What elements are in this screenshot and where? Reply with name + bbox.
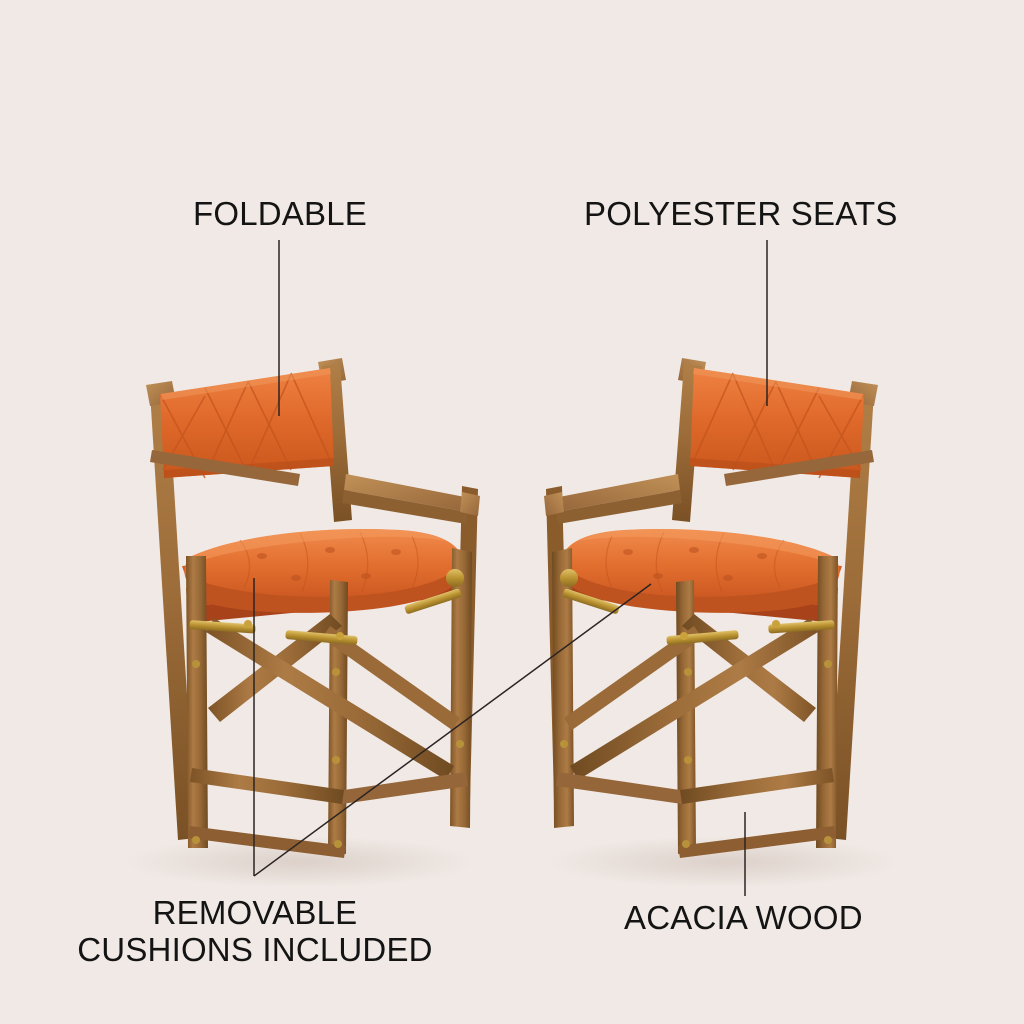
product-infographic: FOLDABLE POLYESTER SEATS REMOVABLE CUSHI… [0, 0, 1024, 1024]
annotation-label-removable-line-1: REMOVABLE [60, 894, 450, 931]
annotation-label-acacia-wood: ACACIA WOOD [624, 900, 863, 936]
annotation-label-removable-cushions: REMOVABLE CUSHIONS INCLUDED [60, 894, 450, 968]
chair-left [125, 358, 480, 888]
chairs-illustration [0, 0, 1024, 1024]
annotation-label-removable-line-2: CUSHIONS INCLUDED [60, 931, 450, 968]
annotation-label-foldable: FOLDABLE [193, 196, 367, 232]
annotation-label-polyester-seats: POLYESTER SEATS [584, 196, 898, 232]
